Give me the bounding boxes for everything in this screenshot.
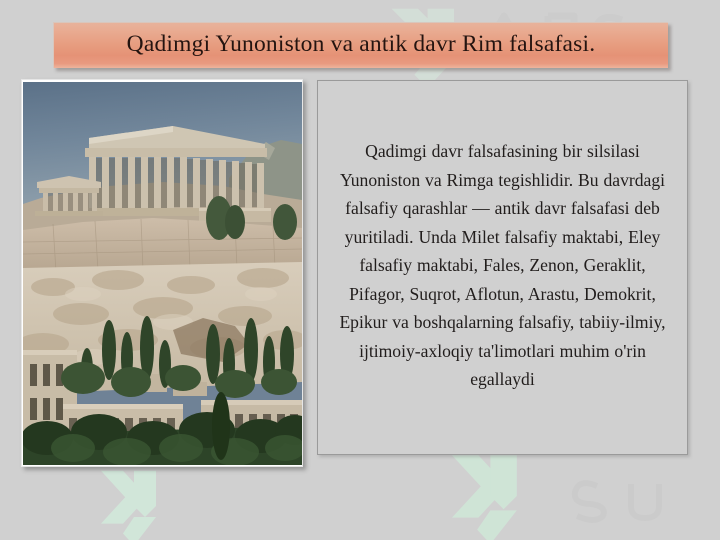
watermark-logo-bottom-center xyxy=(440,448,560,540)
acropolis-image-frame[interactable] xyxy=(21,79,303,467)
acropolis-photo xyxy=(23,82,302,465)
page-title: Qadimgi Yunoniston va antik davr Rim fal… xyxy=(127,33,596,59)
content-text-box[interactable]: Qadimgi davr falsafasining bir silsilasi… xyxy=(317,80,688,455)
watermark-logo-bottom-left xyxy=(90,462,200,540)
body-paragraph: Qadimgi davr falsafasining bir silsilasi… xyxy=(318,131,687,404)
slide-title-banner[interactable]: Qadimgi Yunoniston va antik davr Rim fal… xyxy=(53,22,668,68)
slide-canvas: Qadimgi Yunoniston va antik davr Rim fal… xyxy=(0,0,720,540)
watermark-text-bottom-right xyxy=(545,470,715,530)
